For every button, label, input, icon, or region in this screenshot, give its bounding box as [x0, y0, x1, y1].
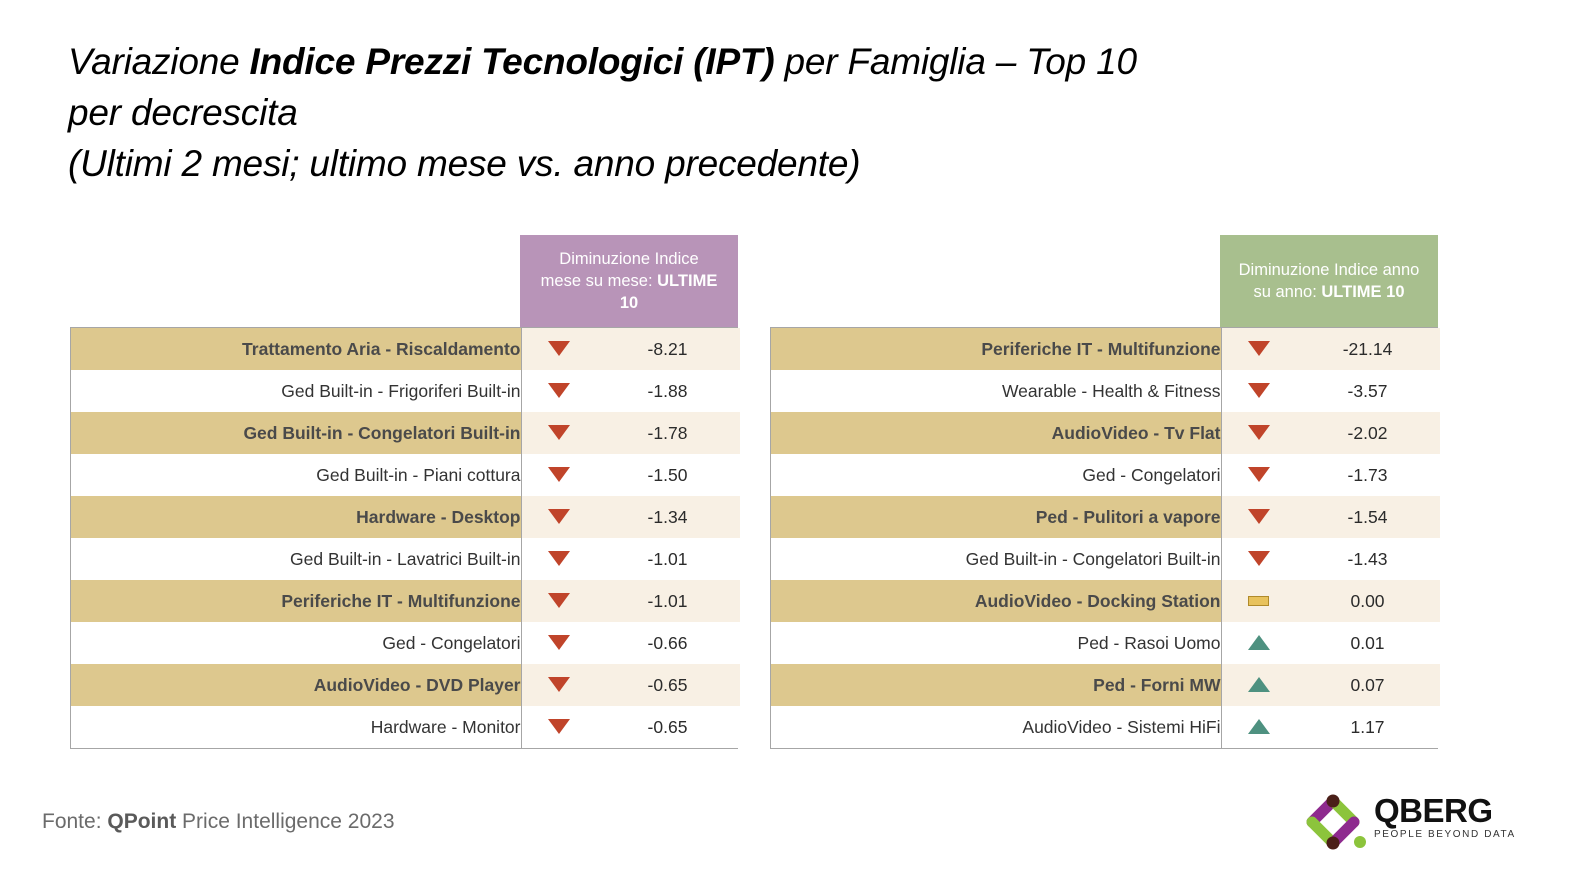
qberg-logo-word: QBERG — [1374, 794, 1486, 828]
table-row: Ged Built-in - Lavatrici Built-in-1.01 — [71, 538, 740, 580]
table-row: AudioVideo - DVD Player-0.65 — [71, 664, 740, 706]
row-label: Periferiche IT - Multifunzione — [71, 580, 521, 622]
row-value: -3.57 — [1296, 370, 1440, 412]
row-label: Ged - Congelatori — [771, 454, 1221, 496]
row-value: -1.01 — [596, 538, 740, 580]
table-row: Ged Built-in - Piani cottura-1.50 — [71, 454, 740, 496]
row-trend-cell — [521, 622, 596, 664]
source-note: Fonte: QPoint Price Intelligence 2023 — [42, 810, 395, 834]
table-month-over-month: Trattamento Aria - Riscaldamento-8.21Ged… — [70, 327, 738, 749]
trend-up-icon — [1248, 635, 1270, 650]
source-note-suffix: Price Intelligence 2023 — [176, 810, 394, 833]
table-row: AudioVideo - Docking Station0.00 — [771, 580, 1440, 622]
table-row: Periferiche IT - Multifunzione-21.14 — [771, 328, 1440, 370]
row-label: AudioVideo - Tv Flat — [771, 412, 1221, 454]
trend-down-icon — [548, 719, 570, 734]
row-trend-cell — [1221, 370, 1296, 412]
row-value: -1.54 — [1296, 496, 1440, 538]
header-left-line-2-bold: ULTIME — [657, 272, 717, 290]
table-row: Wearable - Health & Fitness-3.57 — [771, 370, 1440, 412]
trend-down-icon — [548, 383, 570, 398]
trend-up-icon — [1248, 719, 1270, 734]
row-trend-cell — [521, 538, 596, 580]
row-trend-cell — [1221, 664, 1296, 706]
source-note-brand: QPoint — [107, 810, 176, 833]
row-value: -0.66 — [596, 622, 740, 664]
table-row: Ged Built-in - Frigoriferi Built-in-1.88 — [71, 370, 740, 412]
table-row: Ged Built-in - Congelatori Built-in-1.78 — [71, 412, 740, 454]
column-header-year-over-year: Diminuzione Indice anno su anno: ULTIME … — [1220, 235, 1438, 327]
row-label: Ged Built-in - Piani cottura — [71, 454, 521, 496]
trend-down-icon — [1248, 383, 1270, 398]
row-label: Ged Built-in - Congelatori Built-in — [71, 412, 521, 454]
trend-down-icon — [548, 425, 570, 440]
row-label: Ged Built-in - Congelatori Built-in — [771, 538, 1221, 580]
row-value: -1.50 — [596, 454, 740, 496]
trend-flat-icon — [1248, 596, 1269, 606]
row-label: Hardware - Desktop — [71, 496, 521, 538]
table-row: Ped - Rasoi Uomo0.01 — [771, 622, 1440, 664]
trend-down-icon — [548, 593, 570, 608]
table-year-over-year: Periferiche IT - Multifunzione-21.14Wear… — [770, 327, 1438, 749]
header-right-line-2-prefix: su anno: — [1253, 283, 1321, 301]
trend-down-icon — [1248, 509, 1270, 524]
trend-down-icon — [548, 635, 570, 650]
row-trend-cell — [1221, 496, 1296, 538]
row-label: Wearable - Health & Fitness — [771, 370, 1221, 412]
trend-down-icon — [548, 677, 570, 692]
table-row: AudioVideo - Tv Flat-2.02 — [771, 412, 1440, 454]
row-value: -1.88 — [596, 370, 740, 412]
table-row: Ged Built-in - Congelatori Built-in-1.43 — [771, 538, 1440, 580]
row-trend-cell — [1221, 328, 1296, 370]
row-trend-cell — [521, 454, 596, 496]
row-label: Ged Built-in - Lavatrici Built-in — [71, 538, 521, 580]
row-label: Periferiche IT - Multifunzione — [771, 328, 1221, 370]
trend-down-icon — [1248, 425, 1270, 440]
row-value: -1.43 — [1296, 538, 1440, 580]
row-trend-cell — [521, 412, 596, 454]
table-row: Hardware - Monitor-0.65 — [71, 706, 740, 748]
row-trend-cell — [521, 580, 596, 622]
table-row: Ped - Forni MW0.07 — [771, 664, 1440, 706]
row-label: Ped - Pulitori a vapore — [771, 496, 1221, 538]
header-left-line-2-prefix: mese su mese: — [541, 272, 657, 290]
row-value: -1.73 — [1296, 454, 1440, 496]
row-trend-cell — [1221, 412, 1296, 454]
row-trend-cell — [521, 664, 596, 706]
trend-down-icon — [1248, 341, 1270, 356]
header-left-line-1: Diminuzione Indice — [559, 250, 698, 268]
row-label: Ped - Rasoi Uomo — [771, 622, 1221, 664]
trend-down-icon — [1248, 551, 1270, 566]
trend-down-icon — [548, 341, 570, 356]
source-note-prefix: Fonte: — [42, 810, 107, 833]
qberg-logo-tagline: PEOPLE BEYOND DATA — [1374, 828, 1486, 842]
row-value: 0.00 — [1296, 580, 1440, 622]
trend-down-icon — [548, 551, 570, 566]
row-label: Ged Built-in - Frigoriferi Built-in — [71, 370, 521, 412]
row-label: Ped - Forni MW — [771, 664, 1221, 706]
row-trend-cell — [521, 370, 596, 412]
table-row: Trattamento Aria - Riscaldamento-8.21 — [71, 328, 740, 370]
trend-up-icon — [1248, 677, 1270, 692]
row-value: -0.65 — [596, 706, 740, 748]
row-trend-cell — [521, 328, 596, 370]
header-right-line-2-bold: ULTIME 10 — [1321, 283, 1404, 301]
table-row: Ged - Congelatori-0.66 — [71, 622, 740, 664]
row-value: -1.78 — [596, 412, 740, 454]
row-label: AudioVideo - DVD Player — [71, 664, 521, 706]
row-label: Ged - Congelatori — [71, 622, 521, 664]
row-label: Trattamento Aria - Riscaldamento — [71, 328, 521, 370]
row-value: -0.65 — [596, 664, 740, 706]
row-label: Hardware - Monitor — [71, 706, 521, 748]
row-trend-cell — [1221, 706, 1296, 748]
table-row: Hardware - Desktop-1.34 — [71, 496, 740, 538]
row-value: 0.07 — [1296, 664, 1440, 706]
row-trend-cell — [1221, 454, 1296, 496]
row-label: AudioVideo - Docking Station — [771, 580, 1221, 622]
table-row: Ped - Pulitori a vapore-1.54 — [771, 496, 1440, 538]
row-value: -1.01 — [596, 580, 740, 622]
column-header-month-over-month: Diminuzione Indice mese su mese: ULTIME … — [520, 235, 738, 327]
row-trend-cell — [1221, 622, 1296, 664]
row-value: -2.02 — [1296, 412, 1440, 454]
qberg-logo: QBERG PEOPLE BEYOND DATA — [1300, 792, 1485, 854]
trend-down-icon — [1248, 467, 1270, 482]
qberg-diamond-icon — [1300, 792, 1372, 854]
row-value: 0.01 — [1296, 622, 1440, 664]
header-left-line-3-bold: 10 — [620, 294, 638, 312]
trend-down-icon — [548, 509, 570, 524]
row-value: -1.34 — [596, 496, 740, 538]
table-row: AudioVideo - Sistemi HiFi1.17 — [771, 706, 1440, 748]
row-trend-cell — [521, 706, 596, 748]
row-trend-cell — [1221, 538, 1296, 580]
row-label: AudioVideo - Sistemi HiFi — [771, 706, 1221, 748]
row-trend-cell — [521, 496, 596, 538]
header-right-line-1: Diminuzione Indice anno — [1239, 261, 1420, 279]
row-value: -21.14 — [1296, 328, 1440, 370]
table-row: Periferiche IT - Multifunzione-1.01 — [71, 580, 740, 622]
row-trend-cell — [1221, 580, 1296, 622]
table-row: Ged - Congelatori-1.73 — [771, 454, 1440, 496]
row-value: -8.21 — [596, 328, 740, 370]
row-value: 1.17 — [1296, 706, 1440, 748]
tables-area: Diminuzione Indice mese su mese: ULTIME … — [0, 0, 1588, 886]
qberg-wordmark: QBERG PEOPLE BEYOND DATA — [1374, 794, 1486, 842]
trend-down-icon — [548, 467, 570, 482]
